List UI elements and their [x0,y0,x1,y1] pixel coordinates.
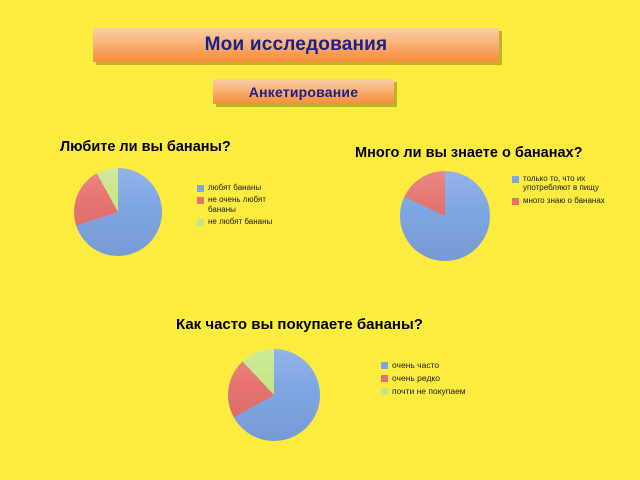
legend-swatch-icon [381,375,388,382]
legend-swatch-icon [512,176,519,183]
legend-item: не очень любят бананы [197,195,295,214]
legend-swatch-icon [512,198,519,205]
slide-title-banner: Мои исследования [93,28,499,62]
chart-title-2: Много ли вы знаете о бананах? [355,145,582,161]
page-subtitle: Анкетирование [249,84,358,100]
legend-swatch-icon [197,185,204,192]
legend-item: много знаю о бананах [512,196,620,205]
pie-chart-1 [74,168,162,256]
legend-item: почти не покупаем [381,386,511,396]
legend-item-label: много знаю о бананах [523,196,605,205]
legend-item: не любят бананы [197,217,295,226]
legend-swatch-icon [197,197,204,204]
pie-chart-3-shading [228,349,320,441]
slide-canvas: Мои исследования Анкетирование Любите ли… [0,0,640,480]
pie-chart-3-legend: очень частоочень редкопочти не покупаем [381,360,511,399]
slide-subtitle-banner: Анкетирование [213,79,394,104]
pie-chart-3 [228,349,320,441]
legend-item: только то, что их употребляют в пищу [512,174,620,193]
legend-item-label: не очень любят бананы [208,195,295,214]
pie-chart-2 [400,171,490,261]
pie-chart-1-legend: любят бананыне очень любят бананыне любя… [197,183,295,230]
legend-item-label: очень редко [392,373,440,383]
legend-item-label: только то, что их употребляют в пищу [523,174,620,193]
legend-item: очень редко [381,373,511,383]
pie-chart-1-shading [74,168,162,256]
legend-swatch-icon [381,388,388,395]
legend-item: любят бананы [197,183,295,192]
legend-item-label: любят бананы [208,183,261,192]
chart-title-3: Как часто вы покупаете бананы? [176,316,423,333]
legend-swatch-icon [381,362,388,369]
page-title: Мои исследования [205,34,388,56]
chart-title-1: Любите ли вы бананы? [60,139,231,155]
pie-chart-2-legend: только то, что их употребляют в пищумног… [512,174,620,208]
legend-swatch-icon [197,219,204,226]
legend-item-label: не любят бананы [208,217,272,226]
legend-item: очень часто [381,360,511,370]
pie-chart-2-shading [400,171,490,261]
legend-item-label: почти не покупаем [392,386,466,396]
legend-item-label: очень часто [392,360,439,370]
